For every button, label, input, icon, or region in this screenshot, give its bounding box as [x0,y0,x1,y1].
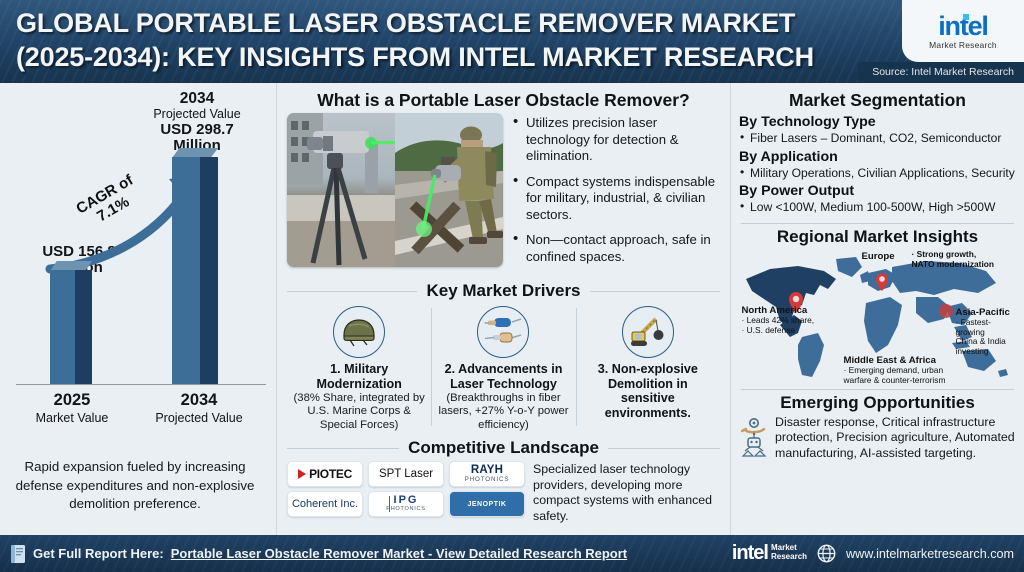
piotec-triangle-icon [298,469,306,479]
region-north-america-note2: · U.S. defense [742,326,815,336]
region-asia-pacific-note1: · Fastest-growing [956,318,1016,338]
footer-report-link[interactable]: Portable Laser Obstacle Remover Market -… [171,546,627,561]
logo-ipg-sub: PHOTONICS [386,507,425,513]
opportunities-text: Disaster response, Critical infrastructu… [775,415,1016,462]
logo-piotec-text: PIOTEC [309,467,352,481]
logo-spt-laser-text: SPT Laser [379,468,433,480]
logo-spt-laser[interactable]: SPT Laser [368,461,444,487]
chart-2034-year: 2034 [128,91,266,107]
fiber-laser-connector-icon [477,306,529,358]
competitive-heading: Competitive Landscape [408,438,599,458]
competitive-heading-row: Competitive Landscape [287,438,720,458]
whatis-bullet-2: Compact systems indispensable for milita… [513,174,720,224]
drivers-rule-left [287,291,417,292]
chart-xtick-2025-label: Market Value [12,411,132,425]
page-title-line1: GLOBAL PORTABLE LASER OBSTACLE REMOVER M… [16,6,914,40]
chart-xtick-2034: 2034 Projected Value [134,391,264,425]
competitive-note: Specialized laser technology providers, … [533,461,720,524]
whatis-bullet-list: Utilizes precision laser technology for … [513,113,720,274]
footer-url[interactable]: www.intelmarketresearch.com [846,547,1014,561]
competitor-logo-grid: PIOTEC SPT Laser RAYH PHOTONICS Coherent… [287,461,525,517]
gear-in-hand-icon [742,419,764,432]
logo-jenoptik[interactable]: JENOPTIK [449,491,525,517]
region-mea-note2: warfare & counter-terrorism [844,376,1004,386]
driver-item-3: 3. Non-explosive Demolition in sensitive… [576,304,720,432]
region-europe: Europe [862,251,895,262]
logo-coherent-text: Coherent Inc. [292,498,358,510]
footer-logo-sub2: Research [771,553,807,562]
middle-column: What is a Portable Laser Obstacle Remove… [276,83,731,535]
whatis-section: Utilizes precision laser technology for … [287,113,720,274]
robot-automation-icon [743,433,765,456]
drivers-list: 1. Military Modernization (38% Share, in… [287,304,720,432]
logo-rayh-text: RAYH [471,465,503,477]
brand-logo-wordmark: intel [938,13,988,39]
competitive-rule-left [287,448,399,449]
chart-2034-value-line1: USD 298.7 [128,122,266,138]
region-asia-pacific: Asia-Pacific · Fastest-growing China & I… [956,307,1016,357]
globe-icon [817,544,836,563]
region-europe-notes: · Strong growth, NATO modernization [912,250,1016,270]
footer-cta-label: Get Full Report Here: [33,546,164,561]
region-north-america: North America · Leads 42% share, · U.S. … [742,305,815,336]
regional-divider [741,389,1014,390]
logo-piotec[interactable]: PIOTEC [287,461,363,487]
logo-ipg-text: IPG [394,495,419,506]
segmentation-heading: Market Segmentation [739,90,1016,111]
chart-2034-sublabel: Projected Value [128,107,266,123]
driver-item-1: 1. Military Modernization (38% Share, in… [287,304,431,432]
driver-1-sub: (38% Share, integrated by U.S. Marine Co… [291,392,427,432]
brand-logo: intel Market Research [902,0,1024,62]
bar-2034-face-left [172,157,200,385]
chart-xtick-2034-label: Projected Value [134,411,264,425]
drivers-heading: Key Market Drivers [426,281,580,301]
footer-cta-group: Get Full Report Here: Portable Laser Obs… [10,544,627,564]
chart-xtick-2025: 2025 Market Value [12,391,132,425]
pin-asia-pacific [939,304,953,318]
infographic-page: GLOBAL PORTABLE LASER OBSTACLE REMOVER M… [0,0,1024,572]
market-value-chart-panel: 2034 Projected Value USD 298.7 Million U… [0,83,276,535]
drivers-rule-right [590,291,720,292]
photo-soldier-laser [395,113,503,267]
segment-value-power: Low <100W, Medium 100-500W, High >500W [739,200,1016,215]
whatis-photos [287,113,503,267]
logo-rayh-photonics[interactable]: RAYH PHOTONICS [449,461,525,487]
brand-logo-subtitle: Market Research [929,40,997,50]
logo-coherent[interactable]: Coherent Inc. [287,491,363,517]
right-column: Market Segmentation By Technology Type F… [731,83,1024,535]
competitive-section: PIOTEC SPT Laser RAYH PHOTONICS Coherent… [287,461,720,524]
chart-x-axis [16,384,266,385]
footer-brand-group: intel Market Research www.intelmarketres… [732,544,1014,563]
body-columns: 2034 Projected Value USD 298.7 Million U… [0,83,1024,535]
bar-2034-face-right [200,157,218,385]
competitive-rule-right [608,448,720,449]
chart-xtick-2034-year: 2034 [181,391,218,409]
segmentation-divider [741,223,1014,224]
drivers-heading-row: Key Market Drivers [287,281,720,301]
footer-bar: Get Full Report Here: Portable Laser Obs… [0,535,1024,572]
bar-2025 [50,270,92,385]
opportunities-icons [739,415,769,463]
ipg-cross-icon [389,496,390,512]
segment-label-technology: By Technology Type [739,114,1016,130]
brand-logo-dot [963,14,969,20]
bar-chart: 2034 Projected Value USD 298.7 Million U… [10,89,266,441]
segment-value-application: Military Operations, Civilian Applicatio… [739,166,1016,181]
wrecking-ball-crane-icon [622,306,674,358]
segment-label-power: By Power Output [739,183,1016,199]
footer-logo-word: intel [732,544,768,563]
driver-2-title: 2. Advancements in Laser Technology [435,362,571,391]
region-europe-name: Europe [862,251,895,262]
chart-2034-callout: 2034 Projected Value USD 298.7 Million [128,91,266,153]
whatis-bullet-3: Non—contact approach, safe in confined s… [513,232,720,265]
bar-2034 [172,157,218,385]
driver-3-title: 3. Non-explosive Demolition in sensitive… [580,362,716,420]
region-middle-east-africa: Middle East & Africa · Emerging demand, … [844,355,1004,386]
chart-xtick-2025-year: 2025 [54,391,91,409]
driver-2-sub: (Breakthroughs in fiber lasers, +27% Y-o… [435,392,571,432]
opportunities-section: Disaster response, Critical infrastructu… [739,415,1016,463]
region-europe-note2: NATO modernization [912,260,1016,270]
bar-2025-face-left [50,270,75,385]
bar-2025-face-right [75,270,92,385]
report-book-icon [10,544,26,564]
whatis-bullet-1: Utilizes precision laser technology for … [513,115,720,165]
logo-ipg-photonics[interactable]: IPG PHOTONICS [368,491,444,517]
logo-rayh-sub: PHOTONICS [465,477,510,483]
driver-1-title: 1. Military Modernization [291,362,427,391]
military-helmet-icon [333,306,385,358]
driver-item-2: 2. Advancements in Laser Technology (Bre… [431,304,575,432]
segment-value-technology: Fiber Lasers – Dominant, CO2, Semiconduc… [739,131,1016,146]
logo-jenoptik-text: JENOPTIK [467,501,506,508]
whatis-heading: What is a Portable Laser Obstacle Remove… [287,90,720,111]
page-title-line2: (2025-2034): KEY INSIGHTS FROM INTEL MAR… [16,40,914,74]
regional-heading: Regional Market Insights [739,227,1016,247]
footer-logo: intel Market Research [732,544,807,563]
page-title: GLOBAL PORTABLE LASER OBSTACLE REMOVER M… [16,6,914,74]
opportunities-heading: Emerging Opportunities [739,393,1016,413]
photo-tripod-laser [287,113,395,267]
segmentation-list: By Technology Type Fiber Lasers – Domina… [739,114,1016,215]
source-label: Source: Intel Market Research [858,62,1024,83]
segment-label-application: By Application [739,149,1016,165]
world-map: North America · Leads 42% share, · U.S. … [740,249,1016,385]
chart-summary-note: Rapid expansion fueled by increasing def… [6,458,264,514]
